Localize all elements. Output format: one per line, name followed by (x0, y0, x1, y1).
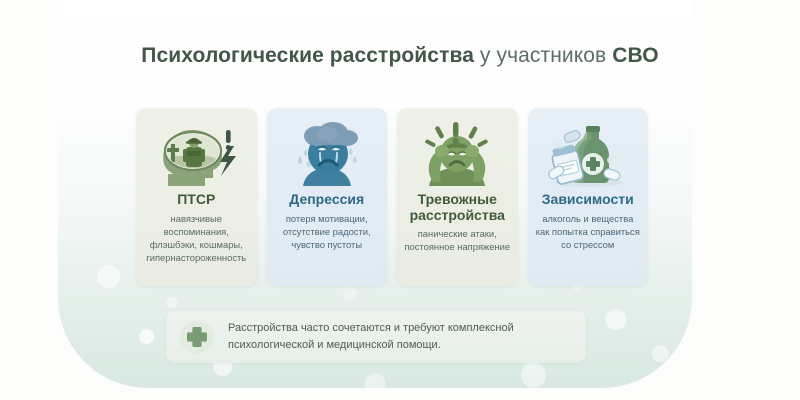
infographic-canvas: Психологические расстройства у участнико… (0, 0, 800, 400)
disorder-card-ptsr[interactable]: ПТСР навязчивые воспоминания, флэшбэки, … (136, 108, 257, 286)
summary-note-banner: Расстройства часто сочетаются и требуют … (166, 311, 586, 363)
medical-cross-icon (180, 320, 214, 354)
card-description: алкоголь и вещества как попытка справить… (533, 213, 644, 252)
disorder-card-depression[interactable]: Депрессия потеря мотивации, отсутствие р… (267, 108, 388, 286)
disorder-card-addiction[interactable]: Зависимости алкоголь и вещества как попы… (528, 108, 649, 286)
summary-note-text: Расстройства часто сочетаются и требуют … (228, 320, 514, 354)
summary-note-line-1: Расстройства часто сочетаются и требуют … (228, 320, 514, 337)
summary-note-line-2: психологической и медицинской помощи. (228, 337, 514, 354)
card-title: Зависимости (542, 192, 634, 208)
page-title: Психологические расстройства у участнико… (0, 44, 800, 68)
card-description: потеря мотивации, отсутствие радости, чу… (272, 213, 383, 252)
card-description: панические атаки, постоянное напряжение (402, 228, 513, 254)
card-title: Тревожные расстройства (402, 192, 513, 223)
title-part-strong-2: СВО (612, 44, 658, 67)
stressed-person-icon (411, 116, 503, 190)
title-part-strong-1: Психологические расстройства (141, 44, 474, 67)
card-description: навязчивые воспоминания, флэшбэки, кошма… (141, 213, 252, 265)
head-soldier-flashback-icon (150, 116, 242, 190)
title-part-light: у участников (474, 44, 612, 67)
card-title: Депрессия (289, 192, 364, 208)
sad-face-raincloud-icon (281, 116, 373, 190)
bottle-pills-icon (542, 116, 634, 190)
disorder-card-anxiety[interactable]: Тревожные расстройства панические атаки,… (397, 108, 518, 286)
card-title: ПТСР (177, 192, 215, 208)
disorder-card-list: ПТСР навязчивые воспоминания, флэшбэки, … (136, 108, 648, 286)
